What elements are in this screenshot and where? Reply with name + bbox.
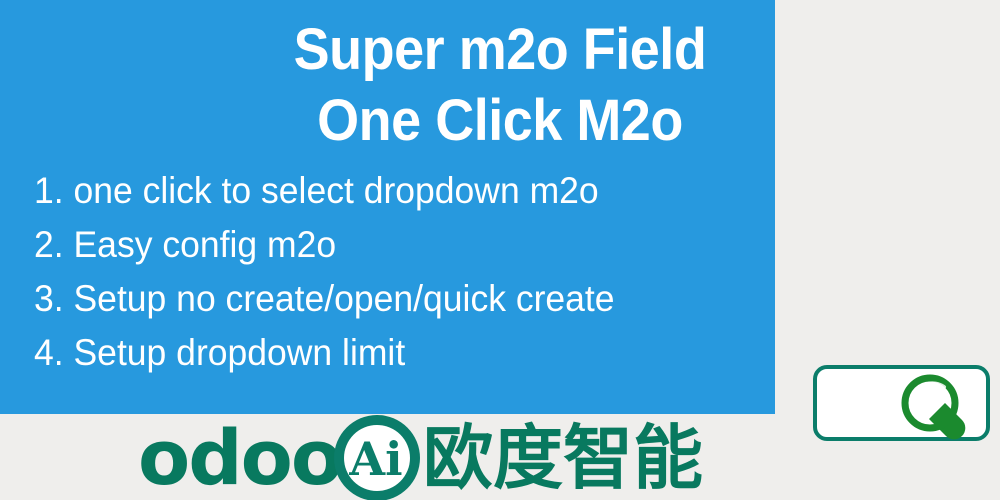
promo-banner: Super m2o Field One Click M2o 1. one cli… <box>0 0 1000 500</box>
list-item: 4. Setup dropdown limit <box>34 326 615 380</box>
brand-logo: odoo Ai 欧度智能 <box>138 412 703 500</box>
list-item: 2. Easy config m2o <box>34 218 615 272</box>
feature-list: 1. one click to select dropdown m2o 2. E… <box>34 164 639 380</box>
list-item: 3. Setup no create/open/quick create <box>34 272 615 326</box>
list-item: 1. one click to select dropdown m2o <box>34 164 615 218</box>
page-title-line-2: One Click M2o <box>35 85 965 156</box>
page-title-line-1: Super m2o Field <box>35 14 965 85</box>
brand-chinese-name: 欧度智能 <box>423 423 703 493</box>
svg-text:Ai: Ai <box>348 432 402 486</box>
odoo-wordmark: odoo <box>138 424 341 492</box>
brand-bar: odoo Ai 欧度智能 <box>0 414 1000 500</box>
page-title: Super m2o Field One Click M2o <box>0 14 1000 156</box>
ai-badge-icon: Ai <box>331 412 423 500</box>
